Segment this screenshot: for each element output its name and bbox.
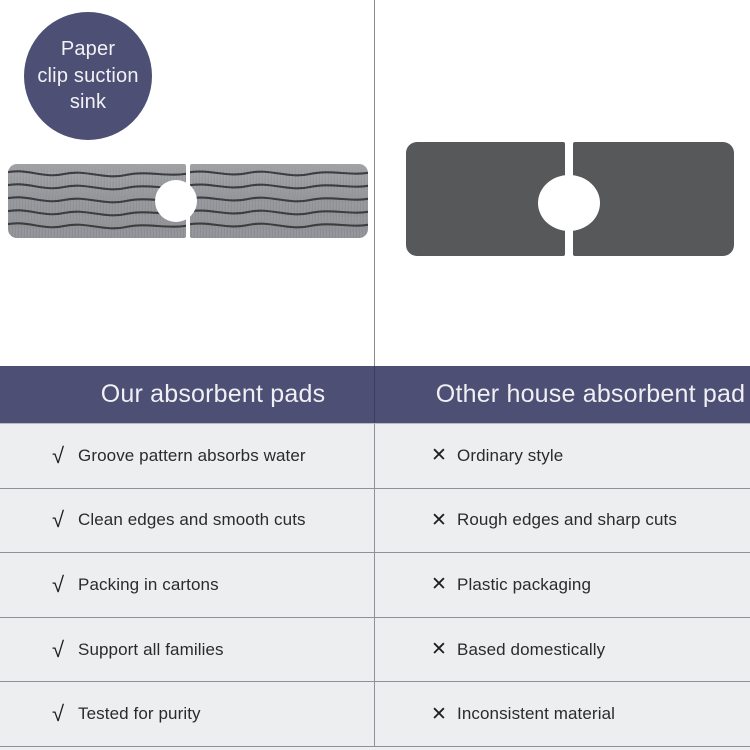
feature-label: Support all families bbox=[78, 640, 224, 660]
check-icon: √ bbox=[52, 639, 78, 661]
feature-cell-other: ✕ Inconsistent material bbox=[375, 682, 750, 746]
grooved-pad-right-half bbox=[190, 164, 368, 238]
feature-cell-other: ✕ Plastic packaging bbox=[375, 553, 750, 617]
table-row: √ Support all families ✕ Based domestica… bbox=[0, 618, 750, 683]
feature-label: Groove pattern absorbs water bbox=[78, 446, 306, 466]
table-row: √ Tested for purity ✕ Inconsistent mater… bbox=[0, 682, 750, 747]
cross-icon: ✕ bbox=[431, 575, 457, 594]
grooved-absorbent-pad-image bbox=[8, 164, 368, 238]
feature-cell-other: ✕ Ordinary style bbox=[375, 424, 750, 488]
header-cell-our-pads: Our absorbent pads bbox=[0, 366, 375, 423]
feature-cell-ours: √ Tested for purity bbox=[0, 682, 375, 746]
our-pads-title: Our absorbent pads bbox=[101, 380, 326, 409]
check-icon: √ bbox=[52, 445, 78, 467]
badge-label: Paper clip suction sink bbox=[37, 36, 138, 115]
feature-cell-other: ✕ Based domestically bbox=[375, 618, 750, 682]
comparison-table-body: √ Groove pattern absorbs water ✕ Ordinar… bbox=[0, 423, 750, 750]
feature-cell-ours: √ Groove pattern absorbs water bbox=[0, 424, 375, 488]
feature-label: Inconsistent material bbox=[457, 704, 615, 724]
feature-label: Plastic packaging bbox=[457, 575, 591, 595]
feature-label: Tested for purity bbox=[78, 704, 201, 724]
feature-label: Clean edges and smooth cuts bbox=[78, 510, 306, 530]
feature-cell-ours: √ Support all families bbox=[0, 618, 375, 682]
product-comparison-infographic: Paper clip suction sink bbox=[0, 0, 750, 750]
table-row: √ Clean edges and smooth cuts ✕ Rough ed… bbox=[0, 489, 750, 554]
table-row: √ Packing in cartons ✕ Plastic packaging bbox=[0, 553, 750, 618]
plain-absorbent-pad-image bbox=[406, 142, 734, 256]
cross-icon: ✕ bbox=[431, 511, 457, 530]
grooved-pad-center-hole bbox=[155, 180, 197, 222]
feature-label: Rough edges and sharp cuts bbox=[457, 510, 677, 530]
product-showcase: Paper clip suction sink bbox=[0, 0, 750, 366]
feature-cell-ours: √ Clean edges and smooth cuts bbox=[0, 489, 375, 553]
feature-label: Packing in cartons bbox=[78, 575, 219, 595]
cross-icon: ✕ bbox=[431, 446, 457, 465]
feature-label: Based domestically bbox=[457, 640, 605, 660]
comparison-table-header: Our absorbent pads Other house absorbent… bbox=[0, 366, 750, 423]
header-cell-other-pads: Other house absorbent pad bbox=[375, 366, 750, 423]
plain-pad-center-hole bbox=[538, 175, 600, 231]
feature-cell-other: ✕ Rough edges and sharp cuts bbox=[375, 489, 750, 553]
paper-clip-suction-sink-badge: Paper clip suction sink bbox=[24, 12, 152, 140]
cross-icon: ✕ bbox=[431, 705, 457, 724]
other-pads-title: Other house absorbent pad bbox=[436, 380, 745, 409]
table-row: √ Groove pattern absorbs water ✕ Ordinar… bbox=[0, 423, 750, 489]
feature-cell-ours: √ Packing in cartons bbox=[0, 553, 375, 617]
check-icon: √ bbox=[52, 574, 78, 596]
groove-lines-icon bbox=[190, 164, 368, 238]
check-icon: √ bbox=[52, 509, 78, 531]
feature-label: Ordinary style bbox=[457, 446, 563, 466]
cross-icon: ✕ bbox=[431, 640, 457, 659]
vertical-divider bbox=[374, 0, 375, 366]
check-icon: √ bbox=[52, 703, 78, 725]
